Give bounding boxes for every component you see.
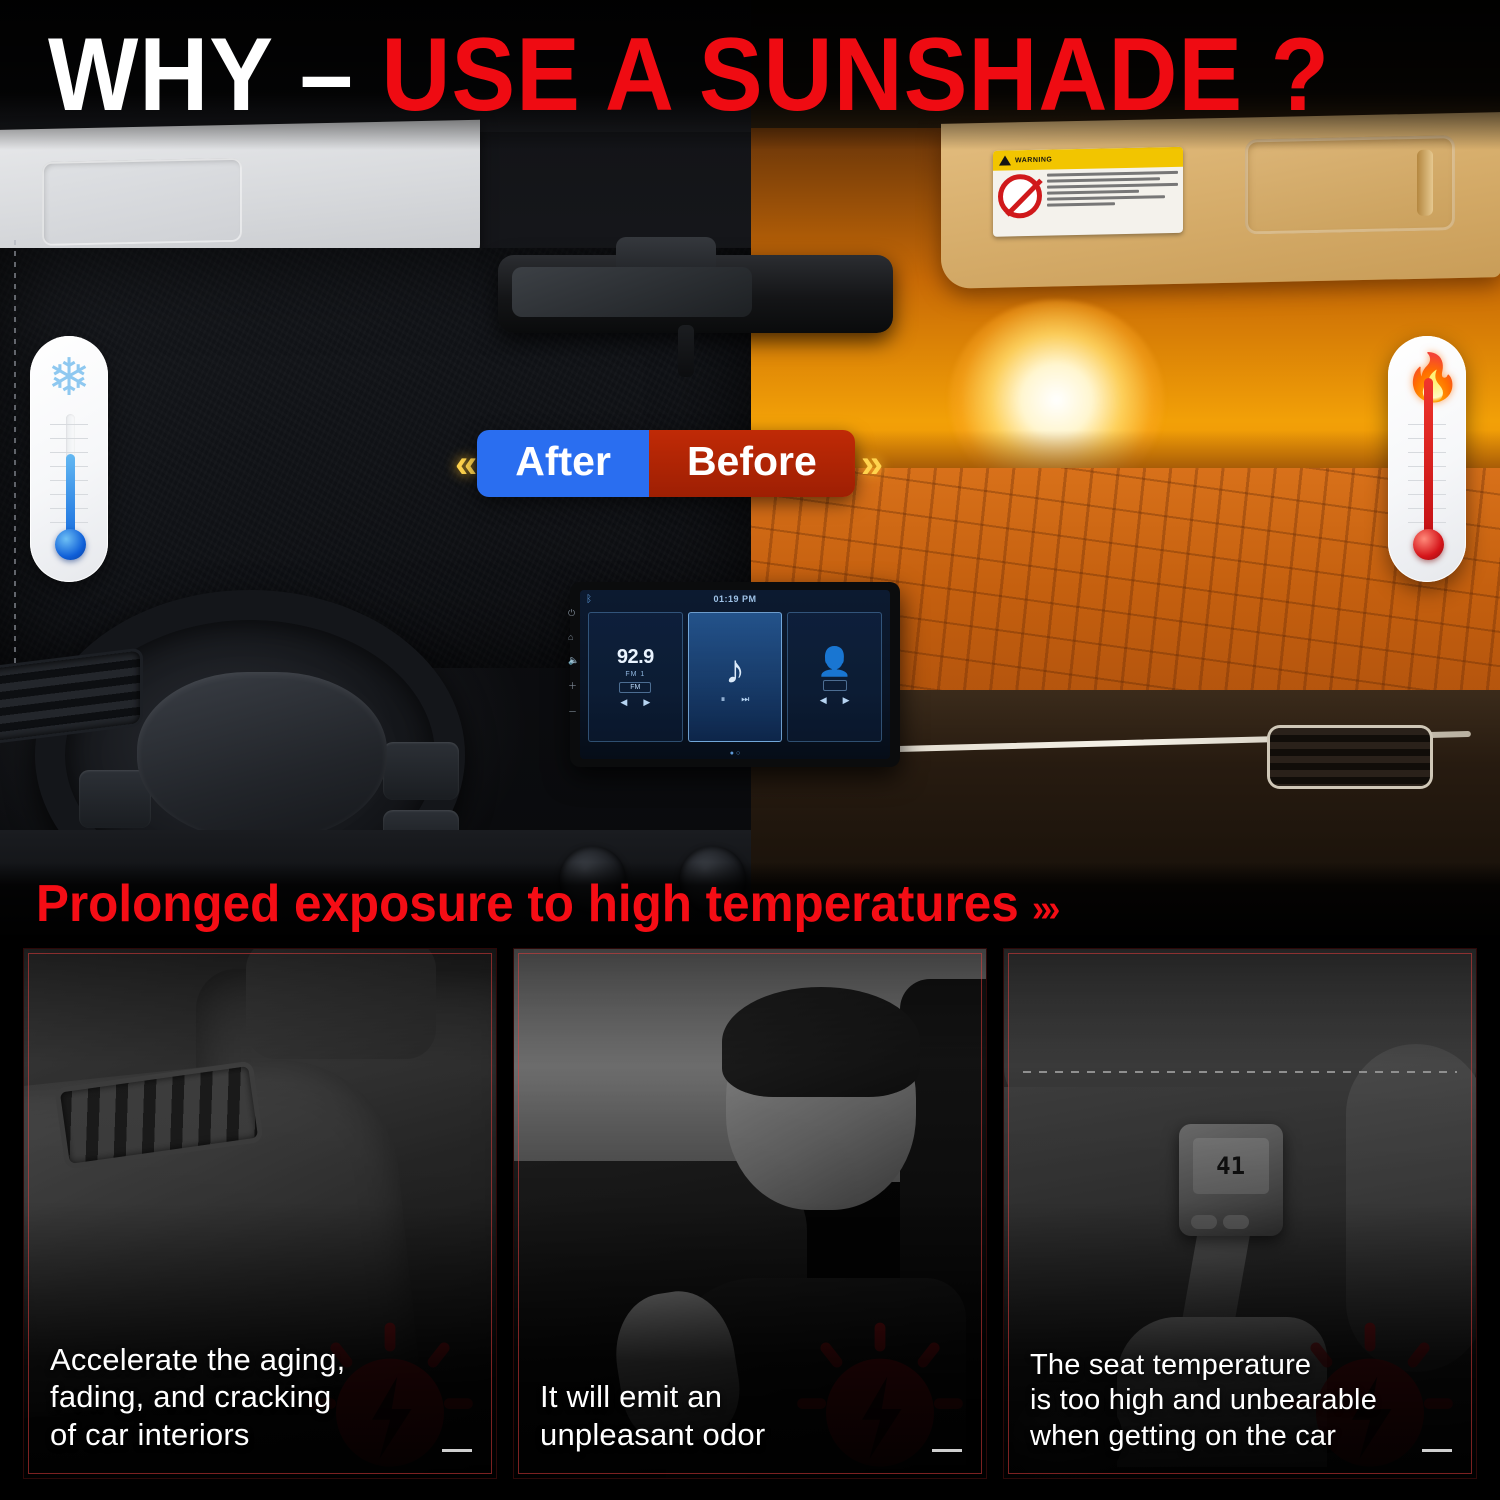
mirror-stalk: [678, 325, 694, 377]
warning-text-lines: [1047, 171, 1178, 218]
after-button[interactable]: After: [477, 430, 649, 497]
panel-3-caption: The seat temperature is too high and unb…: [1030, 1348, 1454, 1454]
warning-body: [993, 167, 1183, 223]
rearview-mirror: [498, 255, 893, 333]
title-white-part: WHY –: [48, 17, 381, 133]
mirror-glass: [512, 267, 752, 317]
panel-2-caption: It will emit an unpleasant odor: [540, 1378, 964, 1454]
panel-1-underscore: [442, 1449, 472, 1452]
warning-triangle-icon: [999, 155, 1011, 165]
media-skip-icon[interactable]: ⏭: [741, 694, 749, 705]
subheadline-arrows-icon: ›››: [1032, 888, 1057, 930]
media-pause-icon[interactable]: ⏸: [721, 694, 726, 705]
profile-pill[interactable]: [823, 680, 847, 691]
panel-2-caption-line-2: unpleasant odor: [540, 1416, 964, 1454]
panel-1-caption-line-2: fading, and cracking: [50, 1378, 474, 1416]
subheadline: Prolonged exposure to high temperatures›…: [36, 874, 1057, 934]
minus-icon[interactable]: －: [568, 705, 579, 718]
infotainment-screen[interactable]: ᛒ 01:19 PM 92.9 FM 1 FM ◀ ▶ ♪: [580, 590, 890, 759]
snowflake-icon: ❄: [42, 350, 96, 408]
person-icon: 👤: [817, 648, 852, 676]
volume-icon[interactable]: 🔈: [568, 655, 579, 666]
product-infographic: WARNING: [0, 0, 1500, 1500]
before-button[interactable]: Before: [649, 430, 855, 497]
steering-control-left: [79, 770, 151, 828]
media-controls[interactable]: ⏸ ⏭: [721, 694, 750, 705]
radio-next-icon[interactable]: ▶: [643, 697, 650, 708]
panel-interior-aging: Accelerate the aging, fading, and cracki…: [24, 949, 496, 1478]
infotainment-head-unit[interactable]: ⏻ ⌂ 🔈 ＋ － ᛒ 01:19 PM 92.9 FM 1 FM: [570, 582, 900, 767]
subheadline-text: Prolonged exposure to high temperatures: [36, 875, 1019, 933]
panel-1-caption-line-3: of car interiors: [50, 1416, 474, 1454]
bluetooth-icon: ᛒ: [586, 594, 592, 605]
warning-title: WARNING: [1015, 156, 1052, 164]
panel-1-caption-line-1: Accelerate the aging,: [50, 1341, 474, 1379]
page-title: WHY – USE A SUNSHADE ?: [48, 23, 1330, 127]
panel-2-underscore: [932, 1449, 962, 1452]
steering-control-right-top: [383, 742, 459, 800]
panel-bad-odor: It will emit an unpleasant odor: [514, 949, 986, 1478]
power-icon[interactable]: ⏻: [568, 608, 579, 619]
title-red-part: USE A SUNSHADE ?: [381, 17, 1330, 133]
clock-label: 01:19 PM: [713, 594, 756, 604]
home-icon[interactable]: ⌂: [568, 632, 579, 642]
visor-warning-label: WARNING: [993, 147, 1183, 237]
radio-controls[interactable]: ◀ ▶: [620, 697, 650, 708]
title-bar: WHY – USE A SUNSHADE ?: [0, 0, 1500, 150]
thermometer-bulb-cold: [55, 529, 86, 560]
radio-prev-icon[interactable]: ◀: [620, 697, 627, 708]
panel-3-caption-line-2: is too high and unbearable: [1030, 1383, 1454, 1418]
chevron-left-icon: «: [455, 444, 471, 484]
before-after-buttons[interactable]: After Before: [477, 430, 855, 497]
plus-icon[interactable]: ＋: [568, 679, 579, 692]
hot-thermometer: 🔥: [1388, 336, 1466, 582]
profile-next-icon[interactable]: ▶: [843, 695, 850, 706]
thermometer-mercury-hot: [1424, 378, 1433, 546]
thermometer-bulb-hot: [1413, 529, 1444, 560]
panel-3-caption-line-1: The seat temperature: [1030, 1348, 1454, 1383]
radio-preset-pill[interactable]: FM: [619, 682, 651, 693]
home-cards: 92.9 FM 1 FM ◀ ▶ ♪ ⏸ ⏭: [580, 608, 890, 750]
panel-3-caption-line-3: when getting on the car: [1030, 1419, 1454, 1454]
media-card[interactable]: ♪ ⏸ ⏭: [688, 612, 783, 742]
page-indicator[interactable]: ● ○: [580, 750, 890, 759]
panel-3-underscore: [1422, 1449, 1452, 1452]
cold-thermometer: ❄: [30, 336, 108, 582]
radio-frequency: 92.9: [617, 647, 654, 667]
radio-band: FM 1: [625, 671, 645, 678]
visor-clip-left: [52, 170, 68, 232]
visor-clip-right: [1417, 150, 1433, 216]
panel-1-caption: Accelerate the aging, fading, and cracki…: [50, 1341, 474, 1454]
radio-card[interactable]: 92.9 FM 1 FM ◀ ▶: [588, 612, 683, 742]
panel-2-caption-line-1: It will emit an: [540, 1378, 964, 1416]
chevron-right-icon: »: [861, 444, 877, 484]
profile-prev-icon[interactable]: ◀: [820, 695, 827, 706]
profile-card[interactable]: 👤 ◀ ▶: [787, 612, 882, 742]
status-bar: ᛒ 01:19 PM: [580, 590, 890, 608]
dashboard-vent-right: [1270, 728, 1430, 786]
benefit-panels: Accelerate the aging, fading, and cracki…: [0, 935, 1500, 1500]
head-unit-side-buttons[interactable]: ⏻ ⌂ 🔈 ＋ －: [568, 608, 579, 718]
panel-hot-seat: 41 The seat tempera: [1004, 949, 1476, 1478]
visor-pocket-right: [1245, 135, 1455, 234]
music-note-icon: ♪: [725, 650, 745, 690]
before-after-badge[interactable]: « After Before »: [455, 430, 877, 497]
no-rear-facing-child-seat-icon: [998, 174, 1042, 219]
profile-controls[interactable]: ◀ ▶: [820, 695, 850, 706]
